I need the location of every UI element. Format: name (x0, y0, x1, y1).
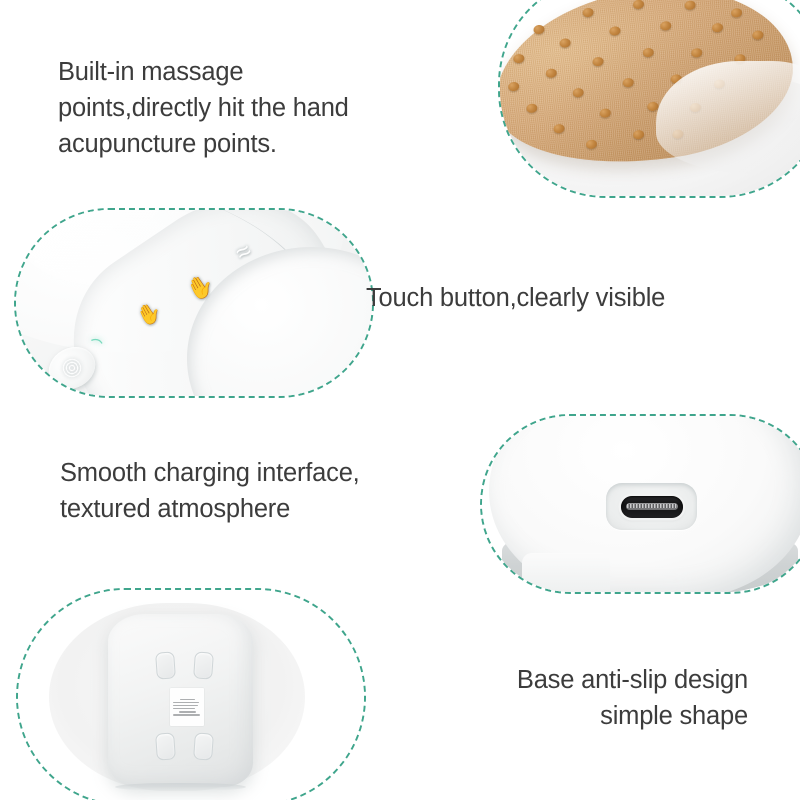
feature-photo-massage-points: Tan fabric massage pad covered in raised… (498, 0, 800, 198)
anti-slip-foot-top-left (155, 651, 176, 679)
device-base-plate (108, 614, 253, 787)
device-stand-foot (522, 553, 609, 592)
feature-photo-touch-button: White control surface with backlit touch… (14, 208, 374, 398)
feature-caption-massage-points: Built-in massage points,directly hit the… (58, 54, 458, 163)
infographic-canvas: Built-in massage points,directly hit the… (0, 0, 800, 800)
feature-caption-charging-interface: Smooth charging interface, textured atmo… (60, 455, 460, 527)
massage-pad-scene (500, 0, 800, 196)
product-spec-label (170, 688, 204, 726)
touch-panel-photo: ≈ ✋ ✋ ◝ (16, 210, 372, 396)
massage-pad-photo (500, 0, 800, 196)
anti-slip-foot-top-right (193, 651, 214, 679)
port-recess (606, 483, 697, 531)
feature-photo-charging-interface: Close-up of the USB-C charging port on t… (480, 414, 800, 594)
usb-c-port-icon[interactable] (621, 496, 683, 518)
base-rim-shadow (115, 783, 246, 792)
usb-c-pins (627, 504, 677, 508)
anti-slip-foot-bottom-right (193, 732, 214, 760)
feature-photo-anti-slip-base: Underside of the device showing four ant… (16, 588, 366, 800)
base-underside-photo (18, 590, 364, 800)
power-button-icon (59, 354, 86, 381)
feature-caption-anti-slip-base: Base anti-slip design simple shape (428, 662, 748, 734)
anti-slip-foot-bottom-left (155, 732, 176, 760)
feature-caption-touch-button: Touch button,clearly visible (366, 280, 766, 316)
charging-port-photo (482, 416, 800, 592)
